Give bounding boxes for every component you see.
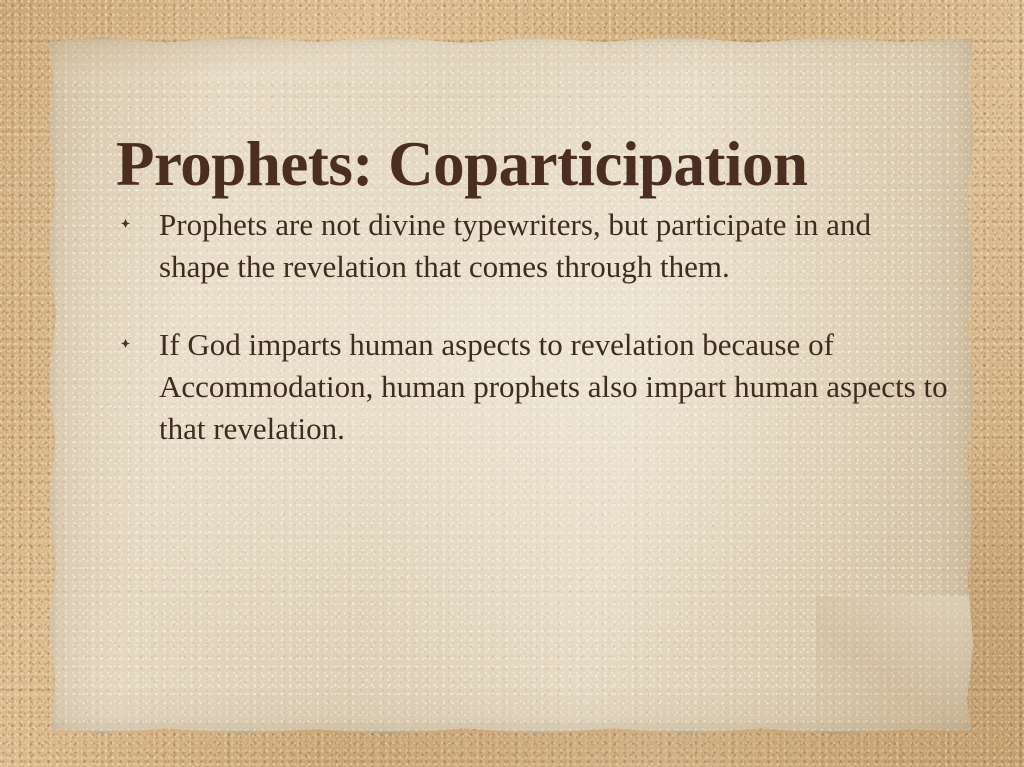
bullet-list-item: If God imparts human aspects to revelati… bbox=[116, 324, 966, 450]
diamond-bullet-icon bbox=[121, 339, 130, 348]
bullet-text: Prophets are not divine typewriters, but… bbox=[159, 204, 949, 288]
slide-content-area: Prophets: Coparticipation Prophets are n… bbox=[46, 35, 976, 736]
slide-title: Prophets: Coparticipation bbox=[116, 133, 946, 196]
bullet-list: Prophets are not divine typewriters, but… bbox=[116, 204, 966, 450]
presentation-slide: Prophets: Coparticipation Prophets are n… bbox=[0, 0, 1024, 767]
bullet-text: If God imparts human aspects to revelati… bbox=[159, 324, 966, 450]
diamond-bullet-icon bbox=[121, 219, 130, 228]
bullet-list-item: Prophets are not divine typewriters, but… bbox=[116, 204, 966, 288]
